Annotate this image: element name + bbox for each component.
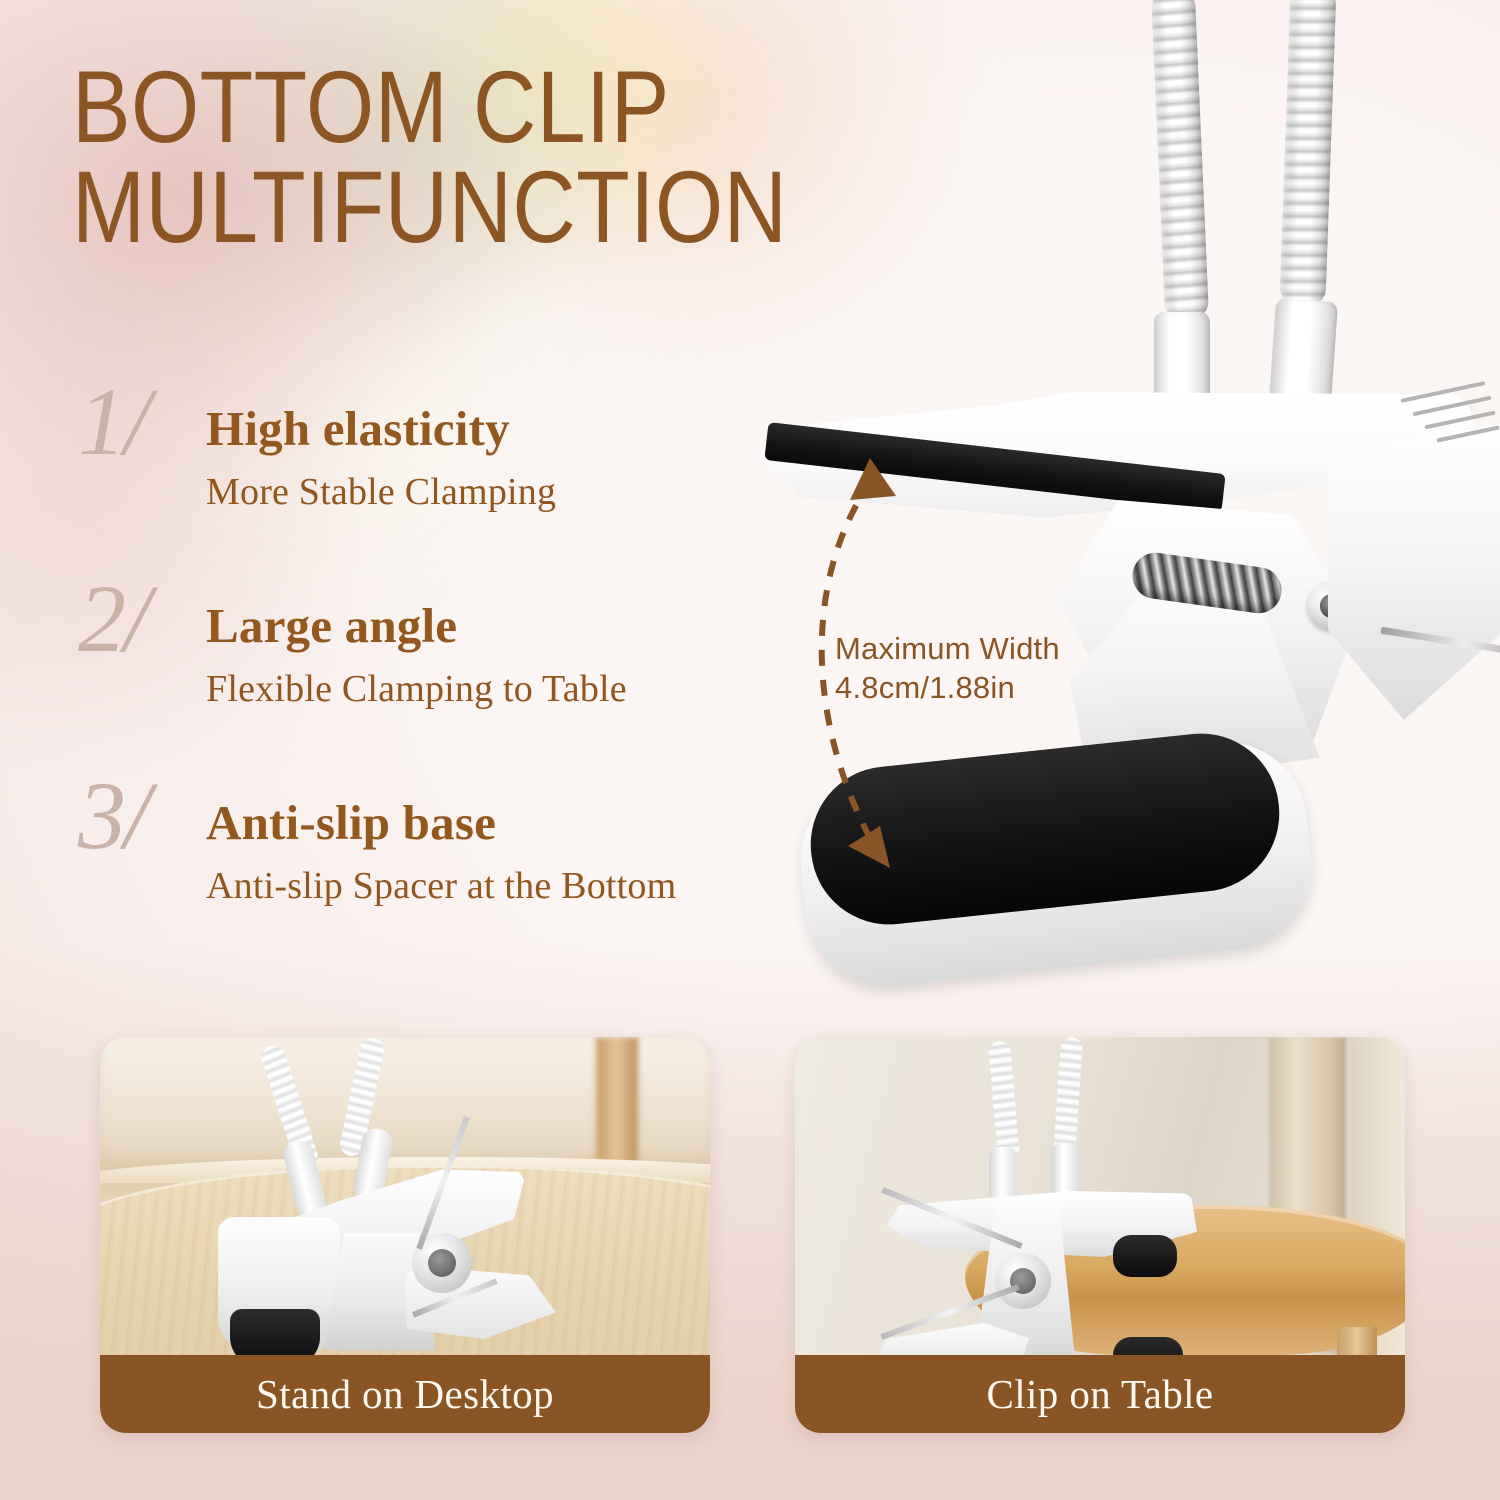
feature-list: 1/ High elasticity More Stable Clamping … <box>78 378 778 969</box>
feature-subtitle-2: Flexible Clamping to Table <box>206 667 627 711</box>
infographic-canvas: BOTTOM CLIP MULTIFUNCTION 1/ High elasti… <box>0 0 1500 1500</box>
desktop-anti-slip-pad <box>230 1309 320 1355</box>
feature-title-2: Large angle <box>206 597 457 654</box>
usecase-card-stand-on-desktop[interactable]: Stand on Desktop <box>100 1037 710 1433</box>
usecase-card-clip-on-table[interactable]: Clip on Table <box>795 1037 1405 1433</box>
page-title: BOTTOM CLIP MULTIFUNCTION <box>72 58 829 258</box>
usecase-photo-desktop <box>100 1037 710 1355</box>
table-anti-slip-pad-lower <box>1113 1337 1183 1355</box>
hero-product-photo <box>740 0 1500 1010</box>
gooseneck-arm-right <box>1279 0 1336 307</box>
caption-stand-on-desktop: Stand on Desktop <box>100 1355 710 1433</box>
gooseneck-arm-left <box>1151 0 1209 321</box>
desktop-pivot-screw-head <box>428 1249 456 1277</box>
feature-item-3: 3/ Anti-slip base Anti-slip Spacer at th… <box>78 772 778 969</box>
table-anti-slip-pad-upper <box>1113 1235 1177 1277</box>
arrowhead-up <box>850 458 896 500</box>
feature-number-3: 3/ <box>78 768 149 864</box>
feature-title-1: High elasticity <box>206 400 510 457</box>
clip-right-wing <box>1328 420 1500 720</box>
feature-item-2: 2/ Large angle Flexible Clamping to Tabl… <box>78 575 778 772</box>
feature-subtitle-3: Anti-slip Spacer at the Bottom <box>206 864 676 908</box>
feature-subtitle-1: More Stable Clamping <box>206 470 556 514</box>
caption-clip-on-table: Clip on Table <box>795 1355 1405 1433</box>
usecase-photo-table <box>795 1037 1405 1355</box>
maximum-width-label: Maximum Width 4.8cm/1.88in <box>835 630 1060 708</box>
feature-title-3: Anti-slip base <box>206 794 496 851</box>
feature-item-1: 1/ High elasticity More Stable Clamping <box>78 378 778 575</box>
feature-number-2: 2/ <box>78 571 149 667</box>
table-leg <box>1337 1327 1377 1355</box>
feature-number-1: 1/ <box>78 374 149 470</box>
